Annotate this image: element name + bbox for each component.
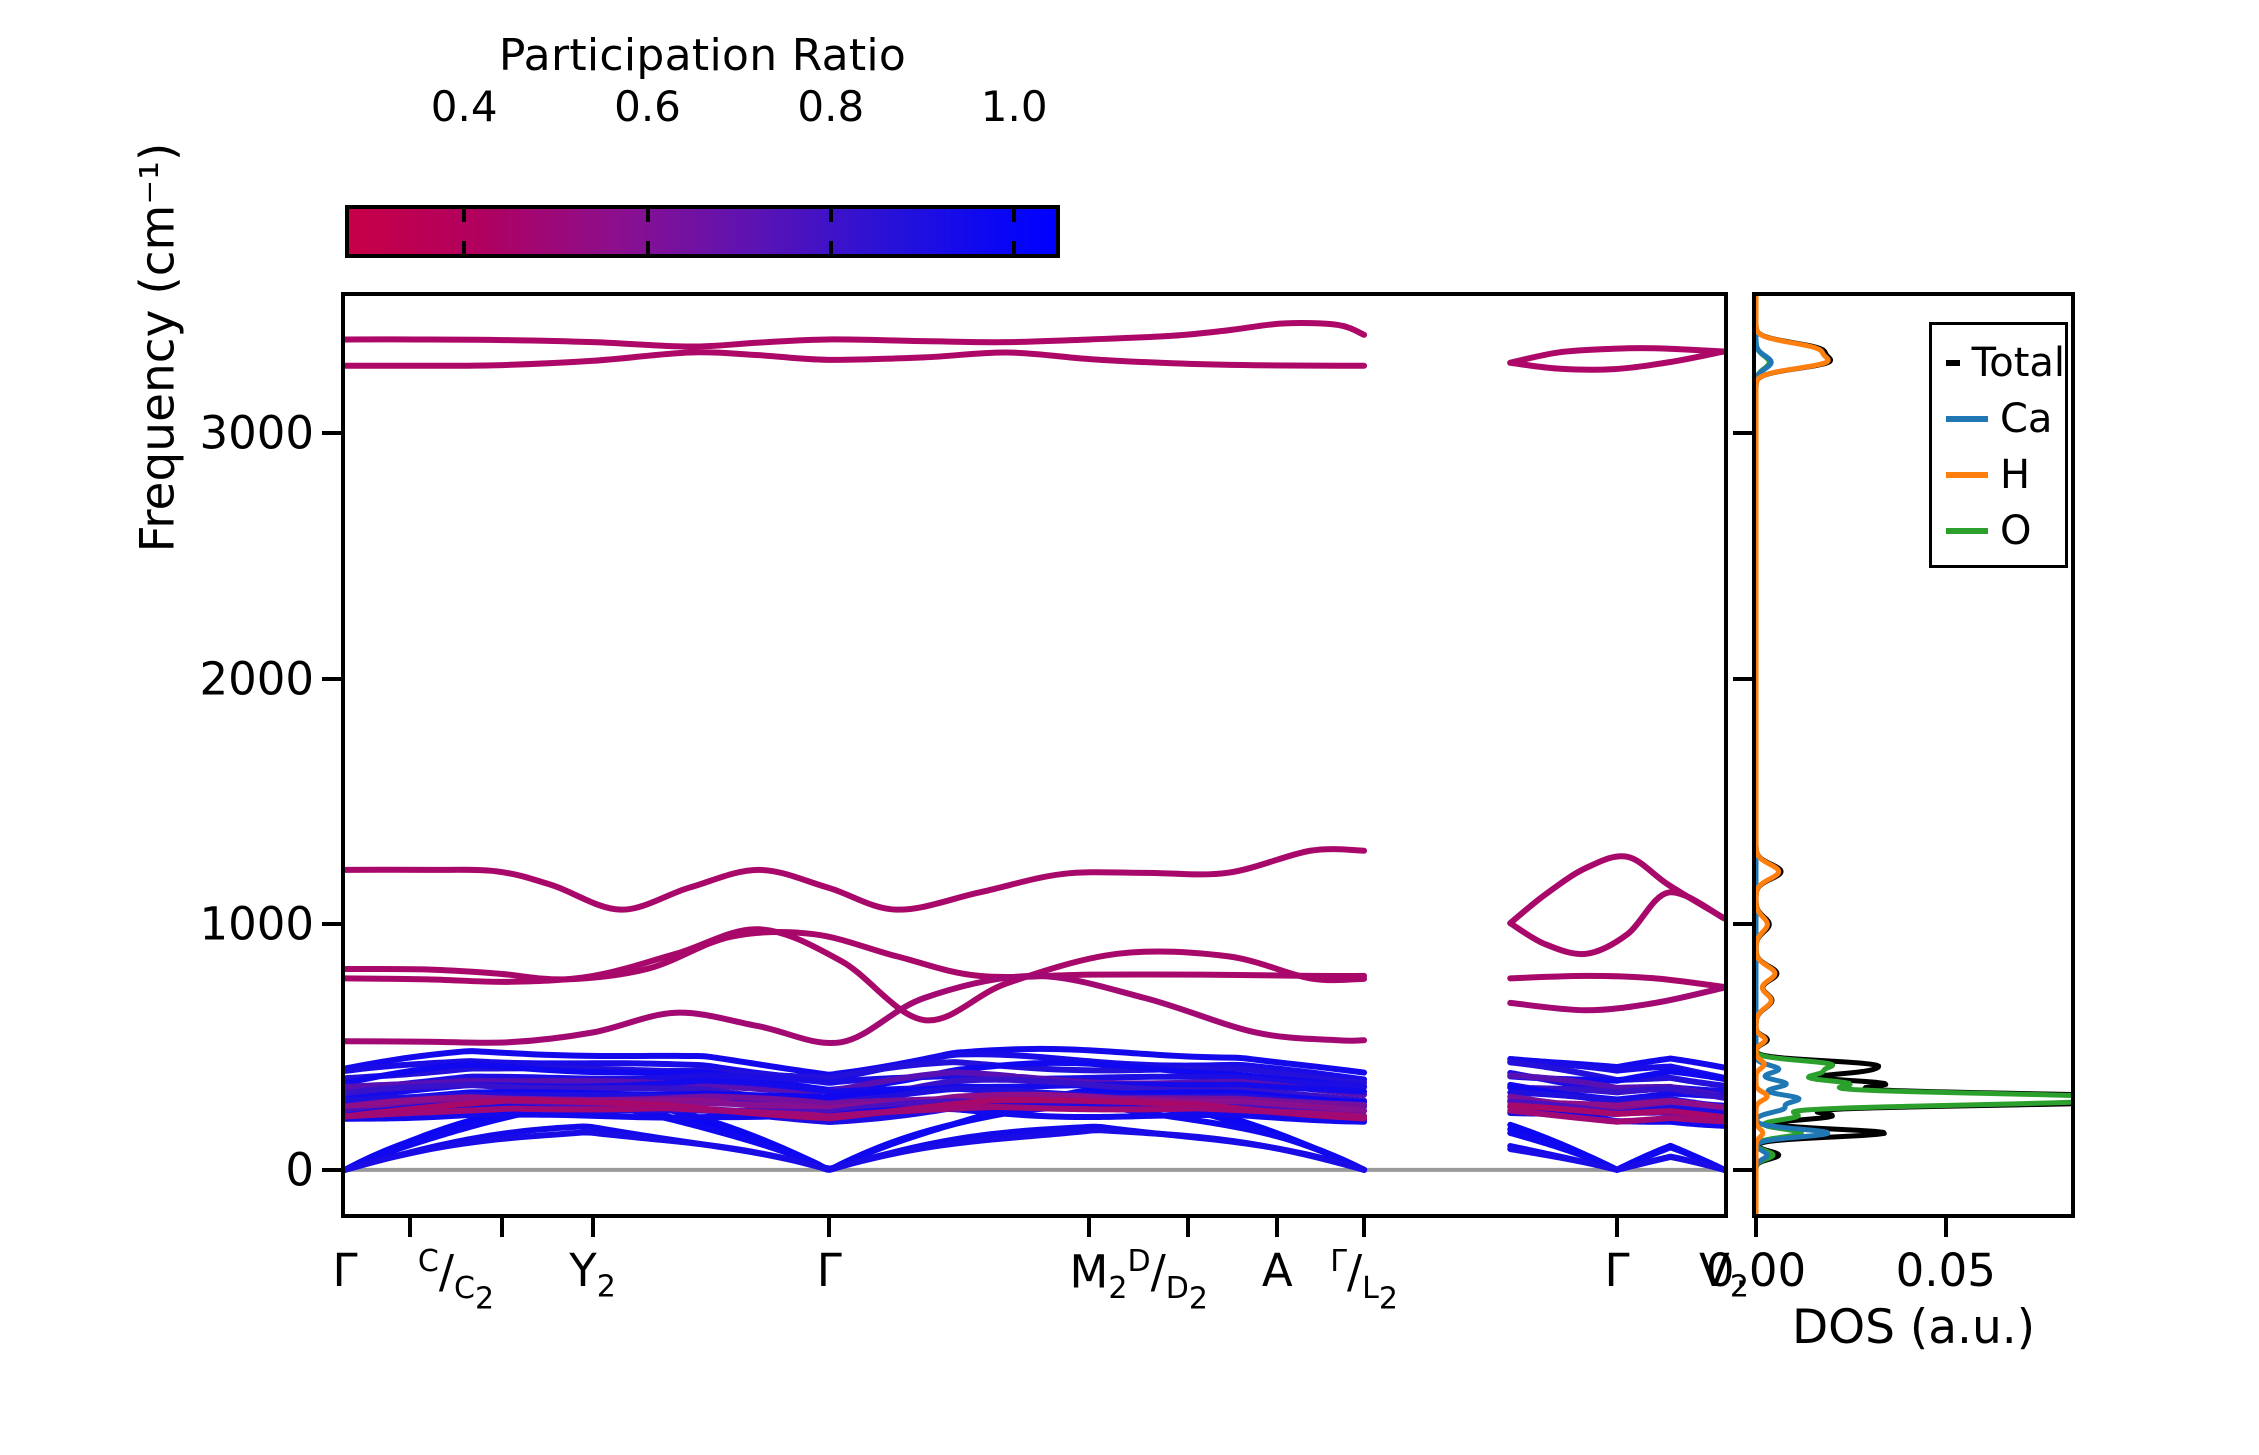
- y-tick: [322, 431, 341, 435]
- legend-entry: H: [1932, 447, 2065, 503]
- colorbar-tick: [646, 209, 650, 222]
- y-tick: [322, 677, 341, 681]
- colorbar-gradient: [349, 209, 1056, 254]
- x-tick: [827, 1218, 831, 1237]
- x-tick: [1087, 1218, 1091, 1237]
- x-tick-label: C/C2: [418, 1244, 494, 1317]
- x-tick-label: Γ: [332, 1244, 357, 1297]
- legend-label: Ca: [2000, 399, 2052, 439]
- dos-x-tick-label: 0.00: [1706, 1244, 1806, 1297]
- colorbar-tick: [646, 241, 650, 254]
- colorbar-tick-labels: 0.40.60.81.0: [345, 82, 1060, 128]
- legend-swatch-total: [1946, 360, 1960, 366]
- x-tick: [408, 1218, 412, 1237]
- colorbar-title: Participation Ratio: [345, 30, 1060, 81]
- colorbar-tick-label: 1.0: [981, 82, 1048, 131]
- dos-y-tick: [1733, 922, 1752, 926]
- y-tick-label: 0: [104, 1143, 314, 1196]
- dos-y-tick: [1733, 677, 1752, 681]
- dos-legend: TotalCaHO: [1929, 322, 2068, 568]
- colorbar-tick-label: 0.4: [431, 82, 498, 131]
- legend-swatch-ca: [1946, 416, 1988, 422]
- x-tick: [1362, 1218, 1366, 1237]
- x-tick-label: Y2: [569, 1244, 616, 1305]
- x-tick: [1615, 1218, 1619, 1237]
- band-plot-area: [345, 296, 1724, 1214]
- x-tick-label: Γ/L2: [1330, 1244, 1398, 1317]
- y-tick-label: 1000: [104, 898, 314, 951]
- colorbar-tick: [462, 241, 466, 254]
- legend-label: H: [2000, 455, 2030, 495]
- y-axis-label: Frequency (cm⁻¹): [131, 0, 186, 698]
- x-tick-label: M2D/D2: [1070, 1244, 1208, 1317]
- dos-y-tick: [1733, 1168, 1752, 1172]
- x-tick-label: Γ: [1604, 1244, 1629, 1297]
- legend-entry: O: [1932, 503, 2065, 559]
- x-tick: [1275, 1218, 1279, 1237]
- colorbar-tick: [1012, 209, 1016, 222]
- legend-swatch-h: [1946, 472, 1988, 478]
- x-tick: [1186, 1218, 1190, 1237]
- legend-swatch-o: [1946, 528, 1988, 534]
- colorbar-tick-label: 0.8: [797, 82, 864, 131]
- dos-x-tick: [1754, 1218, 1758, 1237]
- dos-x-tick: [1944, 1218, 1948, 1237]
- colorbar-tick: [829, 209, 833, 222]
- figure-canvas: Participation Ratio 0.40.60.81.0 0100020…: [0, 0, 2259, 1455]
- legend-label: Total: [1972, 343, 2065, 383]
- x-tick: [591, 1218, 595, 1237]
- colorbar: [345, 205, 1060, 258]
- dos-y-tick: [1733, 431, 1752, 435]
- colorbar-tick: [462, 209, 466, 222]
- y-tick: [322, 1168, 341, 1172]
- colorbar-tick: [829, 241, 833, 254]
- dos-x-axis-label: DOS (a.u.): [1752, 1300, 2075, 1355]
- y-tick: [322, 922, 341, 926]
- x-tick-label: Γ: [817, 1244, 842, 1297]
- legend-entry: Ca: [1932, 391, 2065, 447]
- dos-x-tick-label: 0.05: [1896, 1244, 1996, 1297]
- legend-label: O: [2000, 511, 2031, 551]
- band-structure-panel: [341, 292, 1728, 1218]
- legend-entry: Total: [1932, 335, 2065, 391]
- colorbar-tick: [1012, 241, 1016, 254]
- band-curves: [345, 296, 1724, 1214]
- x-tick: [500, 1218, 504, 1237]
- x-tick-label: A: [1262, 1244, 1293, 1297]
- colorbar-tick-label: 0.6: [614, 82, 681, 131]
